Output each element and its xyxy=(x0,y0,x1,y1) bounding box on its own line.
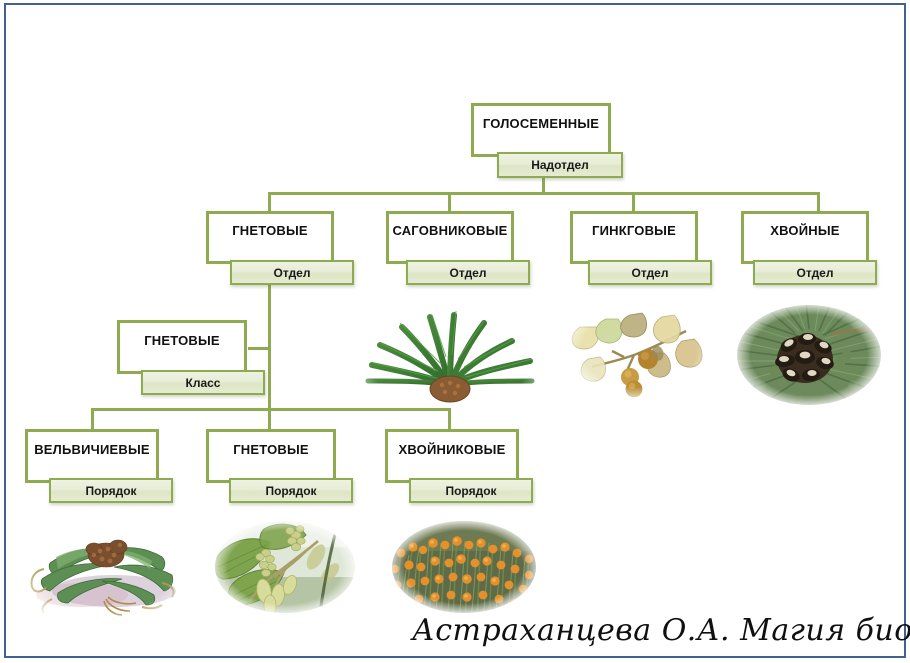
img-ginkgo xyxy=(566,301,712,397)
node-title: ГИНКГОВЫЕ xyxy=(592,224,676,238)
node-title: ВЕЛЬВИЧИЕВЫЕ xyxy=(34,443,150,457)
rank-label: Надотдел xyxy=(531,158,589,172)
img-cycad xyxy=(357,297,543,403)
connector-drop-gnetovye xyxy=(268,192,271,213)
connector-drop-hvoynikovye xyxy=(448,408,451,430)
node-ginkgovye-otdel[interactable]: ГИНКГОВЫЕ xyxy=(570,211,698,264)
connector-drop-sagovnikovye xyxy=(448,192,451,213)
rank-label: Порядок xyxy=(445,484,496,498)
node-title: ХВОЙНЫЕ xyxy=(770,224,839,238)
connector-class-stub xyxy=(248,347,271,350)
rank-badge-otdel-sagovnikovye[interactable]: Отдел xyxy=(406,260,530,285)
rank-label: Отдел xyxy=(450,266,487,280)
rank-label: Порядок xyxy=(85,484,136,498)
node-gnetovye-klass[interactable]: ГНЕТОВЫЕ xyxy=(117,320,247,374)
node-title: САГОВНИКОВЫЕ xyxy=(392,224,507,238)
connector-drop-hvoynye xyxy=(817,192,820,213)
connector-level1-bus xyxy=(268,192,820,195)
node-title: ГНЕТОВЫЕ xyxy=(232,224,308,238)
node-velvichievye-poryadok[interactable]: ВЕЛЬВИЧИЕВЫЕ xyxy=(25,429,159,483)
node-gnetovye-poryadok[interactable]: ГНЕТОВЫЕ xyxy=(206,429,336,483)
rank-label: Порядок xyxy=(265,484,316,498)
rank-badge-otdel-ginkgovye[interactable]: Отдел xyxy=(588,260,712,285)
rank-badge-otdel-gnetovye[interactable]: Отдел xyxy=(230,260,354,285)
img-ephedra xyxy=(383,517,545,617)
node-hvoynikovye-poryadok[interactable]: ХВОЙНИКОВЫЕ xyxy=(385,429,519,483)
rank-badge-klass[interactable]: Класс xyxy=(141,370,265,395)
node-title: ГОЛОСЕМЕННЫЕ xyxy=(483,117,599,131)
rank-label: Отдел xyxy=(632,266,669,280)
node-title: ХВОЙНИКОВЫЕ xyxy=(399,443,506,457)
node-sagovnikovye-otdel[interactable]: САГОВНИКОВЫЕ xyxy=(386,211,514,264)
img-welwitschia xyxy=(22,521,188,619)
rank-badge-poryadok-velvichievye[interactable]: Порядок xyxy=(49,478,173,503)
node-golosemennye[interactable]: ГОЛОСЕМЕННЫЕ xyxy=(471,103,611,157)
rank-badge-poryadok-hvoynikovye[interactable]: Порядок xyxy=(409,478,533,503)
node-gnetovye-otdel[interactable]: ГНЕТОВЫЕ xyxy=(206,211,334,264)
rank-badge-nadotdel[interactable]: Надотдел xyxy=(497,152,623,178)
rank-label: Класс xyxy=(186,376,221,390)
diagram-page: ГОЛОСЕМЕННЫЕ Надотдел ГНЕТОВЫЕ Отдел САГ… xyxy=(0,0,910,663)
img-pine-cone: ............. xyxy=(731,301,887,409)
connector-drop-ginkgovye xyxy=(632,192,635,213)
connector-drop-velvichievye xyxy=(91,408,94,430)
author-signature: Астраханцева О.А. Магия биологии xyxy=(412,613,910,648)
rank-badge-otdel-hvoynye[interactable]: Отдел xyxy=(753,260,877,285)
node-title: ГНЕТОВЫЕ xyxy=(233,443,309,457)
img-gnetum xyxy=(208,517,362,617)
connector-level3-bus xyxy=(91,408,451,411)
rank-label: Отдел xyxy=(797,266,834,280)
node-title: ГНЕТОВЫЕ xyxy=(144,334,220,348)
rank-badge-poryadok-gnetovye[interactable]: Порядок xyxy=(229,478,353,503)
rank-label: Отдел xyxy=(274,266,311,280)
connector-drop-gnetovye-order xyxy=(268,408,271,430)
node-hvoynye-otdel[interactable]: ХВОЙНЫЕ xyxy=(741,211,869,264)
diagram-canvas: ГОЛОСЕМЕННЫЕ Надотдел ГНЕТОВЫЕ Отдел САГ… xyxy=(0,0,910,663)
